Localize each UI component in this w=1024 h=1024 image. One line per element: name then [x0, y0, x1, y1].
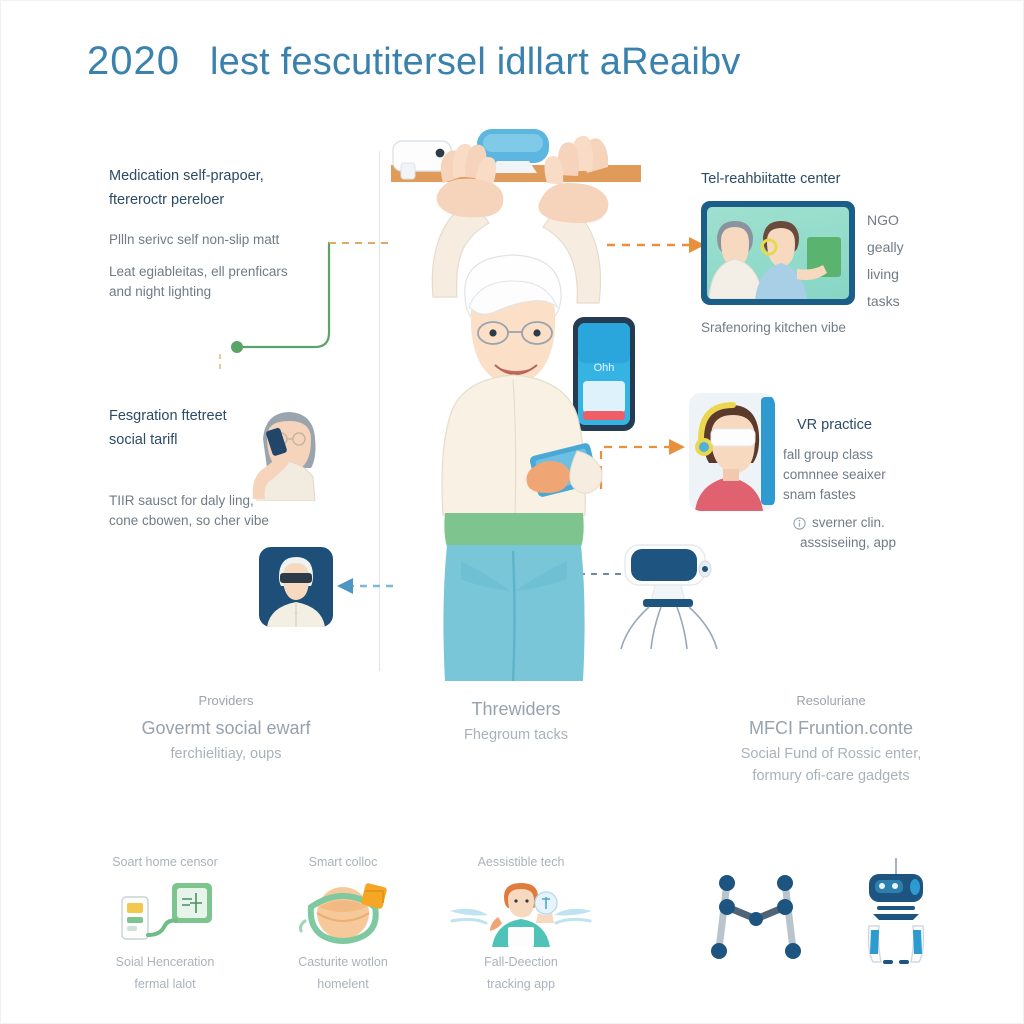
resource-caption: Resoluriane	[681, 691, 981, 710]
icon-cell-smart-home-sensor[interactable]: Soart home censor Soial Henceration ferm…	[85, 853, 245, 993]
phone-screen-label: Ohh	[594, 362, 615, 374]
bottom-column-threwiders: Threwiders Fhegroum tacks	[401, 691, 631, 746]
providers-caption: Providers	[81, 691, 371, 710]
bottom-column-resource: Resoluriane MFCI Fruntion.conte Social F…	[681, 691, 981, 787]
central-person-illustration: Ohh	[391, 121, 641, 681]
threwiders-title: Threwiders	[401, 696, 631, 722]
bottom-column-providers: Providers Govermt social ewarf ferchieli…	[81, 691, 371, 765]
vr-body-line2: comnnee seaixer	[783, 465, 963, 485]
telerehab-video-panel[interactable]	[701, 201, 855, 305]
left-mid-body-line2: cone cbowen, so cher vibe	[109, 511, 349, 531]
person-on-phone-illustration	[229, 399, 333, 501]
assistive-tech-bottom-line1: Fall-Deection	[441, 953, 601, 971]
title-year: 2020	[87, 39, 180, 84]
vr-note-block: sverner clin. asssiseiing, app	[793, 513, 963, 553]
assistive-tech-icon	[441, 875, 601, 949]
resource-title: MFCI Fruntion.conte	[681, 715, 981, 741]
blue-arrow-avatar	[335, 573, 395, 599]
telerehab-side-line-3: living	[867, 261, 957, 288]
smart-clock-bottom-line1: Casturite wotlon	[263, 953, 423, 971]
smart-clock-top-label: Smart colloc	[263, 853, 423, 871]
info-icon	[793, 517, 806, 530]
assistive-tech-bottom-line2: tracking app	[441, 975, 601, 993]
icon-cell-smart-clock[interactable]: Smart colloc Casturite wotlon homelent	[263, 853, 423, 993]
walker-frame-icon	[691, 857, 821, 967]
vr-practice-panel[interactable]	[689, 393, 775, 511]
providers-title: Govermt social ewarf	[81, 715, 371, 741]
green-waistband	[444, 513, 583, 547]
orange-tick-mark	[217, 353, 223, 375]
vr-avatar-card[interactable]	[259, 547, 333, 627]
vr-note-line1: sverner clin.	[812, 513, 896, 533]
smart-clock-bottom-line2: homelent	[263, 975, 423, 993]
person-head	[465, 255, 561, 385]
vr-frame-accent	[761, 397, 775, 505]
vr-body-block: fall group class comnnee seaixer snam fa…	[783, 445, 963, 505]
smart-home-sensor-top-label: Soart home censor	[85, 853, 245, 871]
telerehab-screen	[707, 207, 849, 299]
vr-body-line1: fall group class	[783, 445, 963, 465]
title-text: lest fescutitersel idllart aReaibv	[210, 41, 741, 84]
smart-home-sensor-bottom-line1: Soial Henceration	[85, 953, 245, 971]
vr-note-line2: asssiseiing, app	[800, 533, 896, 553]
vr-heading: VR practice	[797, 415, 872, 435]
telerehab-side-lines: NGO geally living tasks	[867, 207, 957, 315]
telerehab-heading: Tel-reahbiitatte center	[701, 169, 840, 189]
green-connector-dot	[231, 341, 243, 353]
icon-cell-walker-frame[interactable]	[691, 853, 821, 971]
smart-home-sensor-icon	[85, 875, 245, 949]
smart-clock-icon	[263, 875, 423, 949]
providers-sub: ferchielitiay, oups	[81, 743, 371, 765]
avatar-vr-person	[259, 547, 333, 627]
telerehab-side-line-1: NGO	[867, 207, 957, 234]
green-connector-line	[223, 229, 393, 359]
left-top-heading-line2: ftereroctr pereloer	[109, 190, 379, 210]
smartphone-icon: Ohh	[573, 317, 635, 431]
smart-home-sensor-bottom-line2: fermal lalot	[85, 975, 245, 993]
threwiders-sub: Fhegroum tacks	[401, 724, 631, 746]
assistive-tech-top-label: Aessistible tech	[441, 853, 601, 871]
robot-icon	[831, 857, 961, 967]
vr-body-line3: snam fastes	[783, 485, 963, 505]
page-title: 2020 lest fescutitersel idllart aReaibv	[87, 39, 741, 84]
vr-headset-on-stand-illustration	[609, 539, 729, 651]
resource-sub: Social Fund of Rossic enter, formury ofi…	[681, 743, 981, 787]
icon-cell-assistive-tech[interactable]: Aessistible tech	[441, 853, 601, 993]
telerehab-side-line-2: geally	[867, 234, 957, 261]
telerehab-caption: Srafenoring kitchen vibe	[701, 318, 846, 338]
therapist-and-patient-illustration	[707, 207, 849, 299]
telerehab-side-line-4: tasks	[867, 288, 957, 315]
infographic-canvas: 2020 lest fescutitersel idllart aReaibv …	[0, 0, 1024, 1024]
icon-cell-robot[interactable]	[831, 853, 961, 971]
avatar-vr-goggles	[280, 573, 312, 583]
left-top-heading-line1: Medication self-prapoer,	[109, 166, 379, 186]
